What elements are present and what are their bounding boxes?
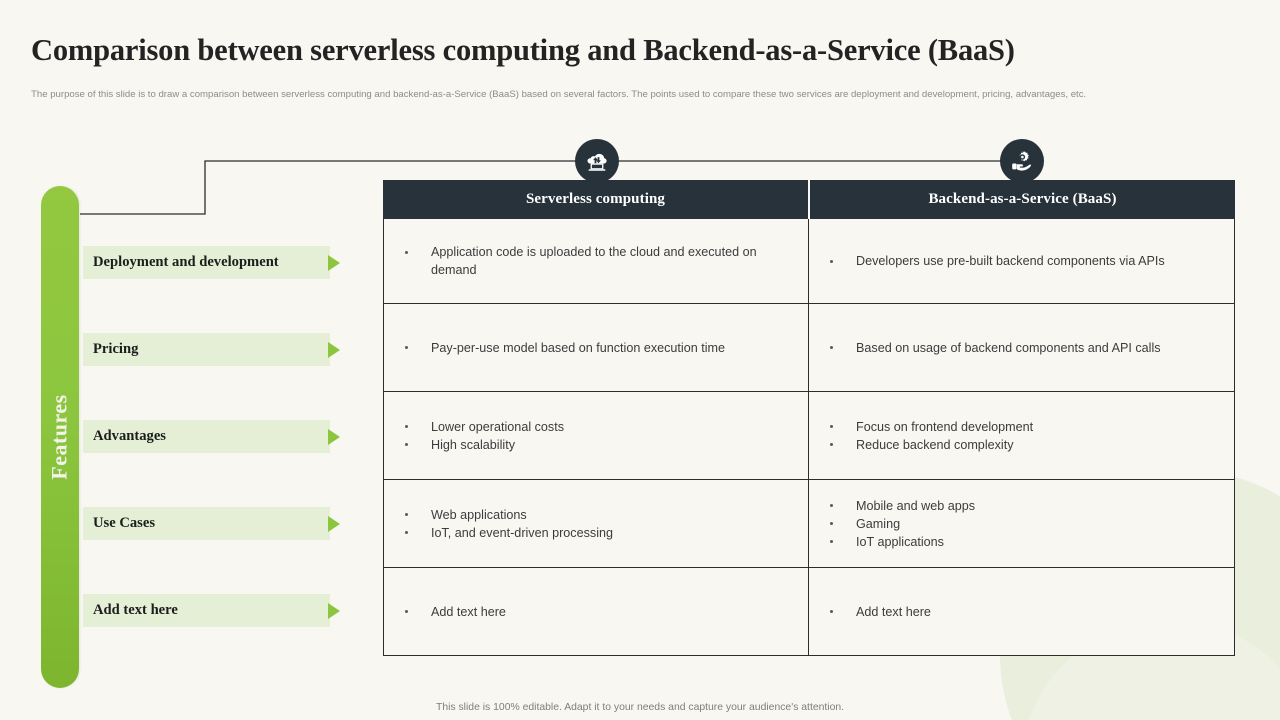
arrow-right-icon [328,255,340,271]
list-item: Gaming [827,515,1218,533]
bullet-list: Pay-per-use model based on function exec… [402,339,792,357]
table-cell-serverless: Application code is uploaded to the clou… [384,219,809,303]
bullet-list: Mobile and web apps Gaming IoT applicati… [827,497,1218,551]
arrow-right-icon [328,603,340,619]
table-header-serverless-computing: Serverless computing [383,180,808,219]
page-subtitle: The purpose of this slide is to draw a c… [31,88,1223,102]
table-cell-baas: Developers use pre-built backend compone… [809,219,1234,303]
page-title: Comparison between serverless computing … [31,33,1015,68]
list-item: Add text here [402,603,792,621]
table-cell-serverless: Lower operational costs High scalability [384,392,809,479]
table-header-baas: Backend-as-a-Service (BaaS) [810,180,1235,219]
table-header-row: Serverless computing Backend-as-a-Servic… [383,180,1235,219]
arrow-right-icon [328,429,340,445]
list-item: IoT, and event-driven processing [402,524,792,542]
feature-item-deployment-and-development[interactable]: Deployment and development [83,246,330,279]
list-item: Add text here [827,603,1218,621]
list-item: Based on usage of backend components and… [827,339,1218,357]
hand-holding-gear-icon [1000,139,1044,183]
feature-item-advantages[interactable]: Advantages [83,420,330,453]
table-cell-baas: Mobile and web apps Gaming IoT applicati… [809,480,1234,567]
table-cell-baas: Focus on frontend development Reduce bac… [809,392,1234,479]
cloud-upload-laptop-icon [575,139,619,183]
list-item: Reduce backend complexity [827,436,1218,454]
list-item: IoT applications [827,533,1218,551]
list-item: Lower operational costs [402,418,792,436]
feature-label: Use Cases [83,515,155,532]
feature-label: Pricing [83,341,138,358]
list-item: Developers use pre-built backend compone… [827,252,1218,270]
list-item: Application code is uploaded to the clou… [402,243,792,279]
comparison-table: Serverless computing Backend-as-a-Servic… [383,180,1235,654]
feature-item-pricing[interactable]: Pricing [83,333,330,366]
bullet-list: Application code is uploaded to the clou… [402,243,792,279]
bullet-list: Add text here [827,603,1218,621]
feature-label: Deployment and development [83,254,279,271]
table-row: Pay-per-use model based on function exec… [383,304,1235,392]
feature-label: Advantages [83,428,166,445]
table-cell-baas: Based on usage of backend components and… [809,304,1234,391]
table-row: Add text here Add text here [383,568,1235,656]
bullet-list: Developers use pre-built backend compone… [827,252,1218,270]
features-axis-bar [41,186,79,688]
slide-canvas: Comparison between serverless computing … [0,0,1280,720]
table-row: Web applications IoT, and event-driven p… [383,480,1235,568]
table-cell-serverless: Web applications IoT, and event-driven p… [384,480,809,567]
bullet-list: Based on usage of backend components and… [827,339,1218,357]
bullet-list: Lower operational costs High scalability [402,418,792,454]
table-row: Lower operational costs High scalability… [383,392,1235,480]
list-item: High scalability [402,436,792,454]
table-row: Application code is uploaded to the clou… [383,219,1235,304]
list-item: Mobile and web apps [827,497,1218,515]
list-item: Focus on frontend development [827,418,1218,436]
arrow-right-icon [328,342,340,358]
arrow-right-icon [328,516,340,532]
feature-label: Add text here [83,602,178,619]
slide-footer-note: This slide is 100% editable. Adapt it to… [0,702,1280,713]
bullet-list: Focus on frontend development Reduce bac… [827,418,1218,454]
feature-item-use-cases[interactable]: Use Cases [83,507,330,540]
bullet-list: Add text here [402,603,792,621]
bullet-list: Web applications IoT, and event-driven p… [402,506,792,542]
table-cell-baas: Add text here [809,568,1234,655]
list-item: Pay-per-use model based on function exec… [402,339,792,357]
list-item: Web applications [402,506,792,524]
feature-item-add-text-here[interactable]: Add text here [83,594,330,627]
table-cell-serverless: Add text here [384,568,809,655]
table-cell-serverless: Pay-per-use model based on function exec… [384,304,809,391]
